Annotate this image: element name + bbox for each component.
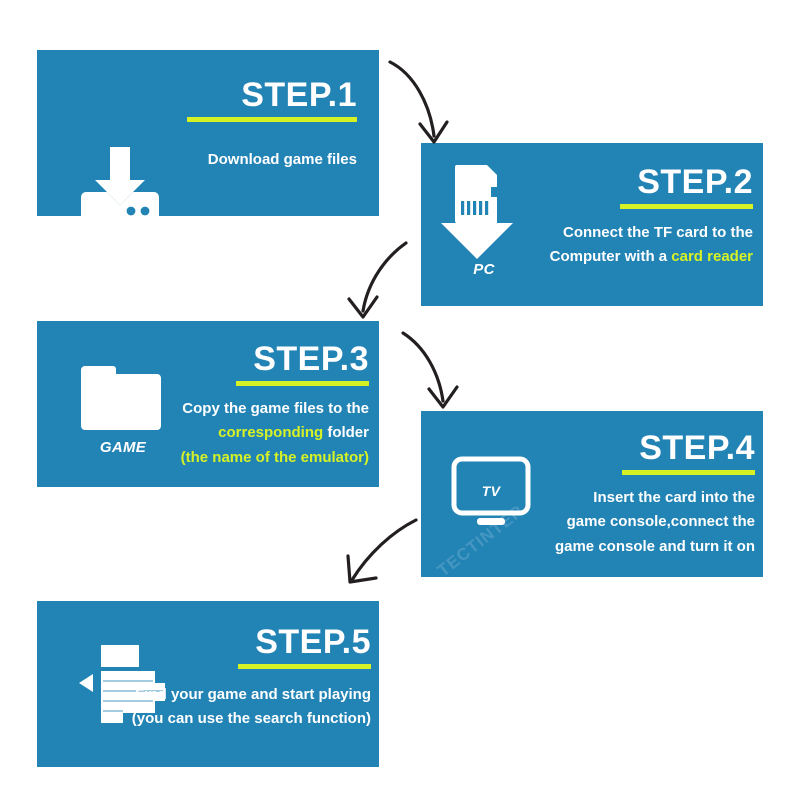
step-2-body: STEP.2 Connect the TF card to the Comput… [529,165,753,270]
step-2-line-1: Connect the TF card to the [529,221,753,245]
step-2-line-2-head: Computer with a [550,248,672,265]
step-card-1[interactable]: STEP.1 Download game files [37,50,379,216]
step-3-line-2-tail: folder [323,424,369,441]
infographic-stage: STEP.1 Download game files P [0,0,800,800]
tf-card-icon-label: PC [439,261,529,278]
step-3-title: STEP.3 [253,342,369,376]
step-3-underline [236,381,369,386]
step-3-line-3: (the name of the emulator) [145,446,369,470]
step-4-line-3: game console and turn it on [529,535,755,559]
step-5-body: STEP.5 Find your game and start playing … [115,625,371,732]
step-5-underline [238,664,371,669]
step-1-title: STEP.1 [241,78,357,112]
step-2-title: STEP.2 [637,165,753,199]
step-1-body: STEP.1 Download game files [187,78,357,172]
step-1-description: Download game files [187,148,357,172]
step-1-title-wrap: STEP.1 [187,78,357,122]
step-2-title-wrap: STEP.2 [529,165,753,209]
step-4-line-2: game console,connect the [529,510,755,534]
step-5-line-2: (you can use the search function) [115,707,371,731]
step-4-body: STEP.4 Insert the card into the game con… [529,431,755,559]
arrow-2-to-3 [330,235,420,330]
step-1-line-1: Download game files [187,148,357,172]
download-icon [81,145,159,216]
step-card-3[interactable]: GAME STEP.3 Copy the game files to the c… [37,321,379,487]
step-4-title: STEP.4 [639,431,755,465]
step-5-description: Find your game and start playing (you ca… [115,683,371,732]
step-3-description: Copy the game files to the corresponding… [145,397,369,470]
step-2-line-2-highlight: card reader [671,248,753,265]
step-5-line-1: Find your game and start playing [115,683,371,707]
tv-icon-label: TV [451,483,531,499]
step-3-title-wrap: STEP.3 [145,342,369,386]
step-4-description: Insert the card into the game console,co… [529,486,755,559]
step-3-line-2-highlight: corresponding [218,424,323,441]
arrow-3-to-4 [395,325,485,420]
step-card-4[interactable]: TV TECTINTER STEP.4 Insert the card into… [421,411,763,577]
step-5-title: STEP.5 [255,625,371,659]
step-2-description: Connect the TF card to the Computer with… [529,221,753,270]
tf-card-icon [439,165,529,270]
step-2-line-2: Computer with a card reader [529,245,753,269]
step-4-underline [622,470,755,475]
arrow-4-to-5 [330,510,430,600]
step-1-underline [187,117,357,122]
step-2-underline [620,204,753,209]
step-3-line-2: corresponding folder [145,421,369,445]
step-3-line-1: Copy the game files to the [145,397,369,421]
step-3-body: STEP.3 Copy the game files to the corres… [145,342,369,470]
step-5-title-wrap: STEP.5 [115,625,371,669]
step-4-line-1: Insert the card into the [529,486,755,510]
step-card-5[interactable]: STEP.5 Find your game and start playing … [37,601,379,767]
arrow-1-to-2 [380,52,470,157]
step-card-2[interactable]: PC STEP.2 Connect the TF card to the Com… [421,143,763,306]
step-4-title-wrap: STEP.4 [529,431,755,475]
